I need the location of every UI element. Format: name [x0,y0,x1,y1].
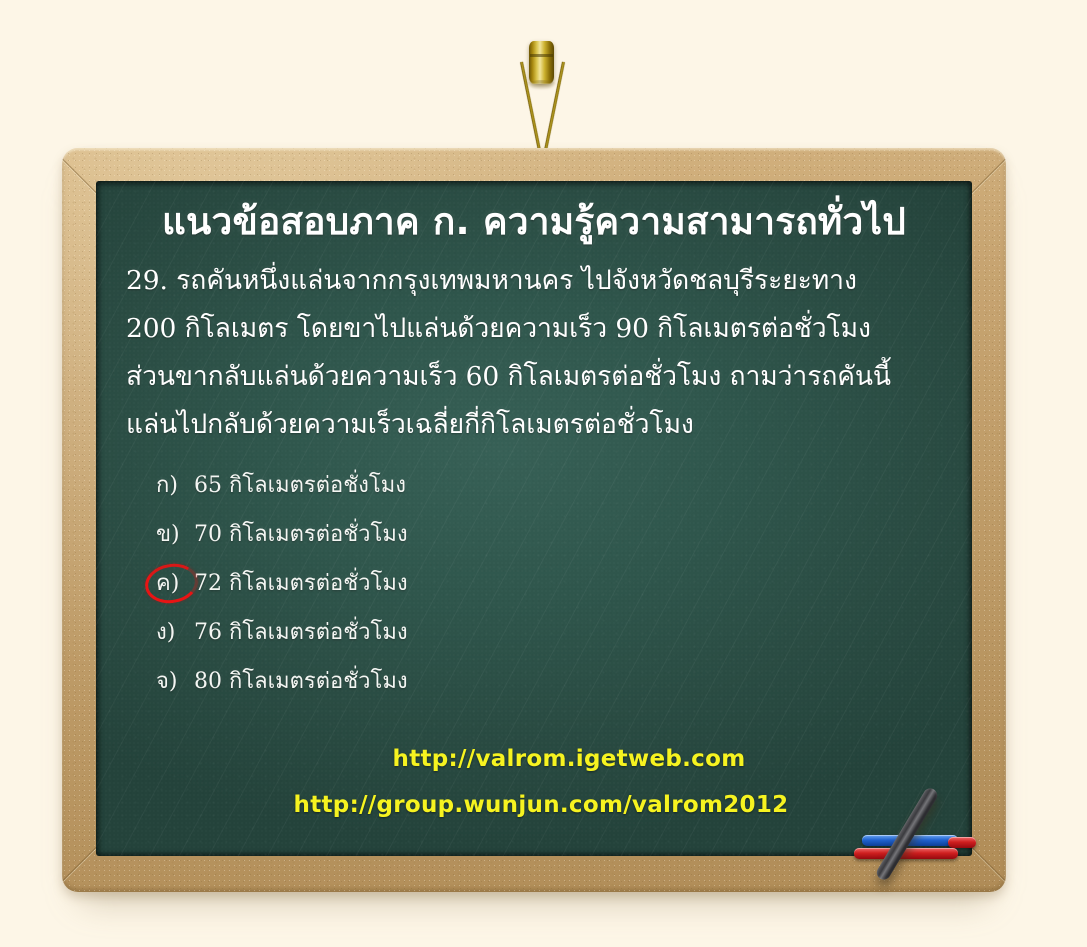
question-text: 29. รถคันหนึ่งแล่นจากกรุงเทพมหานคร ไปจัง… [126,257,942,449]
chalk-tray-props [852,792,1012,892]
list-item[interactable]: จ) 80 กิโลเมตรต่อชั่วโมง [156,657,942,706]
choice-text-2: 70 กิโลเมตรต่อชั่วโมง [194,522,408,547]
chalkboard-assembly: แนวข้อสอบภาค ก. ความรู้ความสามารถทั่วไป … [62,148,1006,892]
list-item[interactable]: ค) 72 กิโลเมตรต่อชั่วโมง [156,559,942,608]
page-title: แนวข้อสอบภาค ก. ความรู้ความสามารถทั่วไป [126,202,942,241]
question-line-3: ส่วนขากลับแล่นด้วยความเร็ว 60 กิโลเมตรต่… [126,353,942,401]
red-chalk-tip[interactable] [948,837,976,848]
frame-miter-top-right [967,156,1006,198]
list-item[interactable]: ข) 70 กิโลเมตรต่อชั่วโมง [156,510,942,559]
choice-key-3: ค) [156,559,187,608]
url-link-1[interactable]: http://valrom.igetweb.com [166,746,972,772]
choice-key-4: ง) [156,608,187,657]
url-link-2[interactable]: http://group.wunjun.com/valrom2012 [110,792,972,818]
choice-text-4: 76 กิโลเมตรต่อชั่วโมง [194,620,408,645]
list-item[interactable]: ง) 76 กิโลเมตรต่อชั่วโมง [156,608,942,657]
list-item[interactable]: ก) 65 กิโลเมตรต่อชั่งโมง [156,461,942,510]
question-line-1: 29. รถคันหนึ่งแล่นจากกรุงเทพมหานคร ไปจัง… [126,257,942,305]
question-line-4: แล่นไปกลับด้วยความเร็วเฉลี่ยกี่กิโลเมตรต… [126,401,942,449]
choice-key-1: ก) [156,461,187,510]
choice-text-3: 72 กิโลเมตรต่อชั่วโมง [194,571,408,596]
choice-text-5: 80 กิโลเมตรต่อชั่วโมง [194,669,408,694]
scene: แนวข้อสอบภาค ก. ความรู้ความสามารถทั่วไป … [0,0,1087,947]
choice-text-1: 65 กิโลเมตรต่อชั่งโมง [194,473,406,498]
wooden-frame: แนวข้อสอบภาค ก. ความรู้ความสามารถทั่วไป … [62,148,1006,892]
answer-choices-list: ก) 65 กิโลเมตรต่อชั่งโมง ข) 70 กิโลเมตรต… [126,461,942,706]
choice-key-2: ข) [156,510,187,559]
credit-urls: http://valrom.igetweb.com http://group.w… [96,746,972,818]
question-line-2: 200 กิโลเมตร โดยขาไปแล่นด้วยความเร็ว 90 … [126,305,942,353]
pointer-stick[interactable] [874,786,940,882]
choice-key-5: จ) [156,657,187,706]
wall-hook-icon [529,41,554,84]
red-chalk-stick[interactable] [854,848,958,859]
chalkboard-surface: แนวข้อสอบภาค ก. ความรู้ความสามารถทั่วไป … [96,181,972,856]
